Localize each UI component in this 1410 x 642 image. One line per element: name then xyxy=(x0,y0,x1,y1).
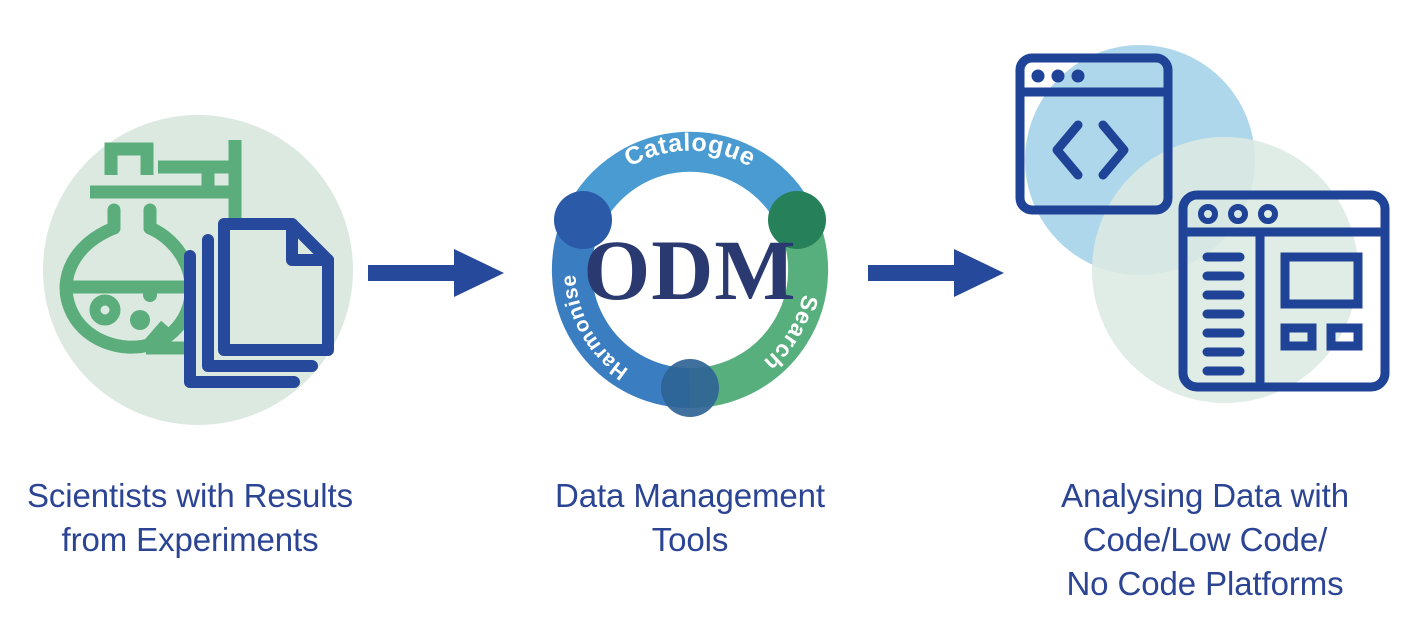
caption-analysis: Analysing Data with Code/Low Code/ No Co… xyxy=(1000,474,1410,606)
flask-bubble-small xyxy=(143,288,157,302)
caption-line: from Experiments xyxy=(0,518,380,562)
caption-line: Code/Low Code/ xyxy=(1000,518,1410,562)
caption-line: Scientists with Results xyxy=(0,474,380,518)
step-tools: Catalogue Search Harmonise ODM Data Mana… xyxy=(480,0,900,642)
flask-bubble-solid xyxy=(130,310,150,330)
scientists-artwork xyxy=(0,20,380,460)
caption-line: No Code Platforms xyxy=(1000,562,1410,606)
dashboard-tile-right xyxy=(1331,328,1358,346)
ring-dot-bottom xyxy=(661,359,719,417)
code-window-dot-3 xyxy=(1072,70,1085,83)
document-front xyxy=(224,224,328,350)
dashboard-sidebar-items xyxy=(1207,257,1240,371)
caption-scientists: Scientists with Results from Experiments xyxy=(0,474,380,562)
step-analysis: Analysing Data with Code/Low Code/ No Co… xyxy=(1000,0,1410,642)
code-window-dot-2 xyxy=(1052,70,1065,83)
odm-ring-artwork: Catalogue Search Harmonise ODM xyxy=(480,20,900,460)
ring-segment-catalogue xyxy=(583,152,797,220)
caption-tools: Data Management Tools xyxy=(480,474,900,562)
step-scientists: Scientists with Results from Experiments xyxy=(0,0,380,642)
odm-wordmark: ODM xyxy=(583,222,796,318)
diagram-canvas: Scientists with Results from Experiments xyxy=(0,0,1410,642)
pale-mint-circle xyxy=(1092,137,1358,403)
caption-line: Tools xyxy=(480,518,900,562)
arrow-tools-to-analysis xyxy=(868,245,1008,301)
caption-line: Analysing Data with xyxy=(1000,474,1410,518)
code-window-dot-1 xyxy=(1032,70,1045,83)
caption-line: Data Management xyxy=(480,474,900,518)
analysis-artwork xyxy=(1000,20,1410,460)
